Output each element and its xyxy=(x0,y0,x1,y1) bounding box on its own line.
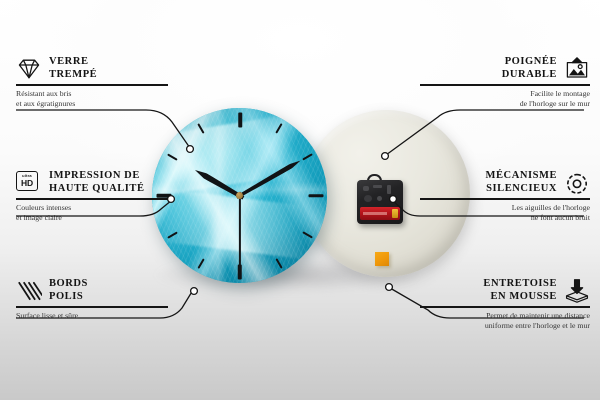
feature-poignee-durable: POIGNÉE DURABLE Facilite le montage de l… xyxy=(420,56,590,109)
feature-entretoise-en-mousse: ENTRETOISE EN MOUSSE Permet de maintenir… xyxy=(420,278,590,331)
feature-description: Facilite le montage de l'horloge sur le … xyxy=(420,89,590,109)
feature-verre-trempe: VERRE TREMPÉ Résistant aux bris et aux é… xyxy=(16,56,168,109)
picture-frame-hanger-icon xyxy=(564,57,590,81)
hour-marker-11 xyxy=(197,123,204,134)
hour-marker-12 xyxy=(238,112,242,127)
feature-impression-haute-qualite: ultra HD IMPRESSION DE HAUTE QUALITÉ Cou… xyxy=(16,170,168,223)
foam-spacer-arrow-icon xyxy=(564,279,590,303)
title-rule xyxy=(420,306,590,308)
feature-bords-polis: BORDS POLIS Surface lisse et sûre xyxy=(16,278,168,321)
hour-marker-7 xyxy=(197,258,204,269)
feature-title: BORDS POLIS xyxy=(49,278,88,303)
feature-description: Les aiguilles de l'horloge ne font aucun… xyxy=(420,203,590,223)
mechanism-details xyxy=(361,184,399,202)
title-rule xyxy=(16,84,168,86)
feature-title: VERRE TREMPÉ xyxy=(49,56,97,81)
feature-mecanisme-silencieux: MÉCANISME SILENCIEUX Les aiguilles de l'… xyxy=(420,170,590,223)
feature-description: Surface lisse et sûre xyxy=(16,311,168,321)
clock-mechanism-box xyxy=(357,180,403,224)
hour-marker-4 xyxy=(302,231,313,238)
hand-center-cap xyxy=(236,192,243,199)
feature-description: Permet de maintenir une distance uniform… xyxy=(420,311,590,331)
title-rule xyxy=(420,84,590,86)
hour-marker-3 xyxy=(308,194,323,198)
feature-title: ENTRETOISE EN MOUSSE xyxy=(483,278,557,303)
ultra-hd-icon: ultra HD xyxy=(16,171,42,195)
diagonal-lines-icon xyxy=(16,279,42,303)
feature-title: POIGNÉE DURABLE xyxy=(502,56,557,81)
feature-title: MÉCANISME SILENCIEUX xyxy=(486,170,557,195)
hour-marker-10 xyxy=(167,153,178,160)
title-rule xyxy=(16,198,168,200)
hour-marker-5 xyxy=(275,258,282,269)
clock-front-face xyxy=(152,108,327,283)
feature-title: IMPRESSION DE HAUTE QUALITÉ xyxy=(49,170,145,195)
foam-spacer xyxy=(375,252,389,266)
hour-marker-8 xyxy=(167,231,178,238)
title-rule xyxy=(420,198,590,200)
hour-marker-2 xyxy=(302,153,313,160)
feature-description: Résistant aux bris et aux égratignures xyxy=(16,89,168,109)
title-rule xyxy=(16,306,168,308)
hour-marker-1 xyxy=(275,123,282,134)
gear-icon xyxy=(564,171,590,195)
battery xyxy=(360,207,400,220)
diamond-icon xyxy=(16,57,42,81)
ultra-hd-bottom-text: HD xyxy=(21,179,33,188)
second-hand xyxy=(239,192,241,270)
feature-description: Couleurs intenses et image claire xyxy=(16,203,168,223)
